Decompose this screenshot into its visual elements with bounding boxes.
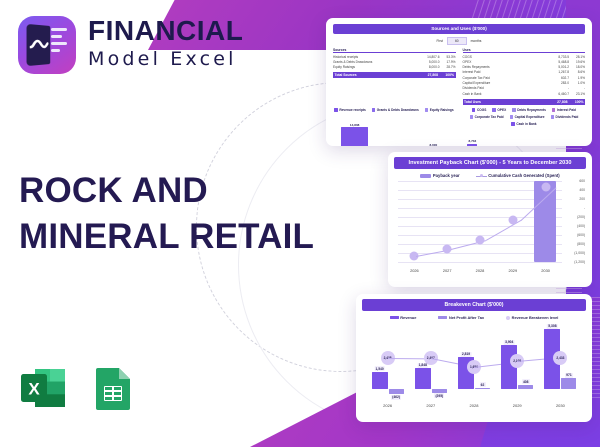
y-tick-label: (600)	[577, 233, 585, 237]
svg-text:X: X	[28, 380, 40, 399]
legend-label: Grants & Debts Drawdowns	[377, 108, 419, 112]
google-sheets-icon	[88, 363, 138, 413]
breakeven-x-axis: 20262027202820292030	[366, 403, 582, 408]
legend-swatch	[506, 316, 510, 320]
sources-total-row: Total Sources 27,808 100%	[333, 72, 456, 78]
legend-swatch	[492, 108, 495, 111]
file-format-icons: X	[18, 363, 138, 413]
x-tick-label: 2026	[410, 268, 419, 273]
y-tick-label: -	[584, 206, 585, 210]
bar-value-label: 14,808	[350, 123, 359, 127]
legend-line-marker	[476, 174, 487, 178]
data-point	[541, 182, 550, 191]
legend-cumulative-cash: Cumulative Cash Generated (Spent)	[476, 173, 560, 178]
y-tick-label: 400	[579, 188, 585, 192]
sources-total-label: Total Sources	[335, 73, 413, 77]
legend-swatch	[470, 115, 473, 118]
x-tick-label: 2029	[508, 268, 517, 273]
net-profit-bar: (295)	[432, 389, 447, 392]
line-segment	[521, 187, 557, 220]
y-tick-label: (1,000)	[574, 251, 585, 255]
sources-uses-title: Sources and Uses ($'000)	[333, 24, 585, 34]
uses-total-value: 27,808	[542, 100, 568, 104]
legend-swatch	[512, 108, 515, 111]
bar-column: 603	[524, 128, 539, 146]
legend-swatch	[510, 115, 513, 118]
investment-payback-panel[interactable]: Investment Payback Chart ($'000) - 5 Yea…	[388, 152, 592, 287]
y-tick-label: 200	[579, 197, 585, 201]
cover-slide: FINANCIAL Model Excel ROCK AND MINERAL R…	[0, 0, 600, 447]
y-tick-label: 600	[579, 179, 585, 183]
legend-swatch	[551, 115, 554, 118]
sources-bar-chart: Revenue receiptsGrants & Debts Drawdowns…	[333, 105, 455, 146]
bar-value-label: 5,308	[547, 324, 558, 329]
legend-item: Dividends Paid	[551, 115, 579, 119]
bar-column: 8,000	[414, 114, 453, 146]
y-tick-label: (800)	[577, 242, 585, 246]
legend-label: Cumulative Cash Generated (Spent)	[488, 173, 559, 178]
bar-column: 1,268	[509, 128, 524, 146]
breakeven-legend: Revenue Net Profit After Tax Revenue Bre…	[362, 315, 586, 320]
bar-value-label: 1,540	[374, 366, 385, 371]
brand-logo: FINANCIAL Model Excel	[18, 16, 243, 74]
bar-group: 1,848(295)2,407	[409, 322, 452, 396]
revenue-bar: 1,540	[372, 372, 388, 389]
net-profit-bar: 62	[475, 388, 490, 390]
legend-label: Interest Paid	[557, 108, 576, 112]
chart-document-icon	[18, 16, 76, 74]
data-point	[476, 235, 485, 244]
legend-item: Equity Raisings	[425, 108, 454, 112]
page-title: ROCK AND MINERAL RETAIL	[19, 168, 329, 260]
brand-name-line2: Model Excel	[88, 45, 243, 74]
net-profit-bar: (462)	[389, 389, 404, 394]
legend-item: Interest Paid	[552, 108, 576, 112]
legend-revenue: Revenue	[390, 315, 417, 320]
legend-swatch	[390, 316, 399, 319]
bar-value-label: 2,819	[461, 352, 472, 357]
uses-total-label: Total Uses	[464, 100, 542, 104]
microsoft-excel-icon: X	[18, 363, 68, 413]
legend-item: OPEX	[492, 108, 506, 112]
logo-text-lines	[51, 28, 67, 62]
legend-swatch	[511, 122, 514, 125]
bar-value-label: 62	[479, 382, 485, 387]
line-segment	[486, 220, 522, 241]
legend-label: Revenue	[400, 315, 416, 320]
source-pct: 28.7%	[440, 65, 456, 70]
subheader-left: First	[437, 39, 443, 43]
bar-group: 3,9044082,105	[496, 322, 539, 396]
breakeven-title: Breakeven Chart ($'000)	[362, 299, 586, 311]
breakeven-marker: 2,433	[553, 351, 567, 365]
y-tick-label: (1,200)	[574, 260, 585, 264]
use-pct: 23.1%	[569, 92, 585, 97]
legend-label: Dividends Paid	[556, 115, 579, 119]
bar	[467, 144, 477, 146]
legend-label: Revenue receipts	[339, 108, 365, 112]
source-value: 8,000.0	[414, 65, 440, 70]
x-tick-label: 2028	[452, 403, 495, 408]
x-tick-label: 2026	[366, 403, 409, 408]
payback-title: Investment Payback Chart ($'000) - 5 Yea…	[394, 157, 586, 169]
net-profit-bar: 408	[518, 385, 533, 390]
legend-item: Capital Expenditure	[510, 115, 545, 119]
sources-uses-subheader: First 60 months	[333, 37, 585, 45]
legend-net-profit: Net Profit After Tax	[438, 315, 484, 320]
bar-value-label: 3,904	[504, 340, 515, 345]
legend-item: Revenue receipts	[334, 108, 365, 112]
legend-label: Revenue Breakeven level	[512, 315, 559, 320]
net-profit-bar: 971	[561, 378, 576, 389]
bar-column: 14,808	[335, 114, 374, 146]
bar-group: 5,3089712,433	[539, 322, 582, 396]
breakeven-bars: 1,540(462)2,4381,848(295)2,4072,819621,6…	[366, 322, 582, 396]
bar-column: 6,460	[568, 128, 583, 146]
sources-and-uses-panel[interactable]: Sources and Uses ($'000) First 60 months…	[326, 18, 592, 146]
x-tick-label: 2028	[476, 268, 485, 273]
legend-label: COGS	[477, 108, 486, 112]
payback-line-series	[398, 181, 562, 262]
bar-column: 5,001	[495, 128, 510, 146]
legend-item: Cash in Bank	[511, 122, 536, 126]
legend-label: OPEX	[497, 108, 506, 112]
bar-column: 283	[539, 128, 554, 146]
uses-total-pct: 100%	[568, 100, 584, 104]
table-row: Equity Raisings8,000.028.7%	[333, 65, 456, 70]
legend-label: Cash in Bank	[516, 122, 536, 126]
bar-column: 5,000	[374, 114, 413, 146]
sources-bars: 14,8085,0008,000	[333, 114, 455, 146]
bar-value-label: (295)	[434, 393, 444, 398]
legend-swatch	[472, 108, 475, 111]
legend-item: Debts Repayments	[512, 108, 546, 112]
payback-plot-area: 600400200-(200)(400)(600)(800)(1,000)(1,…	[394, 181, 586, 273]
legend-swatch	[334, 108, 337, 111]
payback-legend: Payback year Cumulative Cash Generated (…	[394, 173, 586, 178]
legend-swatch	[372, 108, 375, 111]
bar	[341, 127, 368, 146]
subheader-right: months	[471, 39, 482, 43]
bar-value-label: 408	[522, 379, 530, 384]
breakeven-plot-area: 1,540(462)2,4381,848(295)2,4072,819621,6…	[362, 322, 586, 408]
legend-swatch	[552, 108, 555, 111]
legend-item: Grants & Debts Drawdowns	[372, 108, 419, 112]
bar-value-label: (462)	[391, 395, 401, 400]
bar-column: -	[554, 128, 569, 146]
source-label: Equity Raisings	[333, 65, 414, 70]
sources-total-pct: 100%	[438, 73, 454, 77]
uses-chart-legend: COGSOPEXDebts RepaymentsInterest PaidCor…	[463, 108, 585, 126]
bar-column: 8,733	[465, 128, 480, 146]
sources-table: Sources Historical receipts14,807.653.3%…	[333, 48, 456, 105]
logo-card-shape	[27, 24, 51, 66]
legend-label: Payback year	[433, 173, 460, 178]
legend-breakeven-level: Revenue Breakeven level	[506, 315, 558, 320]
legend-label: Equity Raisings	[430, 108, 454, 112]
x-tick-label: 2030	[541, 268, 550, 273]
revenue-bar: 1,848	[415, 368, 431, 389]
wave-line-icon	[30, 38, 49, 53]
legend-item: Corporate Tax Paid	[470, 115, 504, 119]
sources-chart-legend: Revenue receiptsGrants & Debts Drawdowns…	[333, 108, 455, 112]
use-value: 6,460.7	[543, 92, 569, 97]
bar-group: 2,819621,650	[452, 322, 495, 396]
legend-swatch	[425, 108, 428, 111]
legend-swatch	[438, 316, 447, 319]
uses-bar-chart: COGSOPEXDebts RepaymentsInterest PaidCor…	[463, 105, 585, 146]
sources-total-value: 27,808	[412, 73, 438, 77]
x-tick-label: 2027	[443, 268, 452, 273]
x-tick-label: 2027	[409, 403, 452, 408]
data-point	[508, 215, 517, 224]
legend-label: Net Profit After Tax	[449, 315, 484, 320]
brand-name-line1: FINANCIAL	[88, 17, 243, 45]
use-label: Cash in Bank	[463, 92, 544, 97]
subheader-value[interactable]: 60	[447, 37, 467, 45]
bar-value-label: 8,733	[469, 139, 477, 143]
y-tick-label: (400)	[577, 224, 585, 228]
bar-value-label: 8,000	[429, 143, 437, 146]
y-tick-label: (200)	[577, 215, 585, 219]
breakeven-panel[interactable]: Breakeven Chart ($'000) Revenue Net Prof…	[356, 294, 592, 422]
x-tick-label: 2029	[496, 403, 539, 408]
legend-label: Corporate Tax Paid	[475, 115, 504, 119]
table-row: Cash in Bank6,460.723.1%	[463, 92, 586, 97]
legend-payback-year: Payback year	[420, 173, 459, 178]
x-tick-label: 2030	[539, 403, 582, 408]
legend-label: Capital Expenditure	[515, 115, 545, 119]
payback-y-axis: 600400200-(200)(400)(600)(800)(1,000)(1,…	[562, 181, 586, 262]
bar-value-label: 971	[565, 373, 573, 378]
legend-label: Debts Repayments	[517, 108, 546, 112]
bar-column: 5,469	[480, 128, 495, 146]
uses-table: Uses COGS8,733.528.1%OPEX5,468.819.6%Deb…	[463, 48, 586, 105]
uses-bars: 8,7335,4695,0011,268603283-6,460	[463, 128, 585, 146]
uses-header: Uses	[463, 48, 586, 54]
sources-header: Sources	[333, 48, 456, 54]
legend-item: COGS	[472, 108, 486, 112]
legend-swatch	[420, 174, 431, 178]
bar-group: 1,540(462)2,438	[366, 322, 409, 396]
payback-x-axis: 20262027202820292030	[398, 268, 562, 273]
